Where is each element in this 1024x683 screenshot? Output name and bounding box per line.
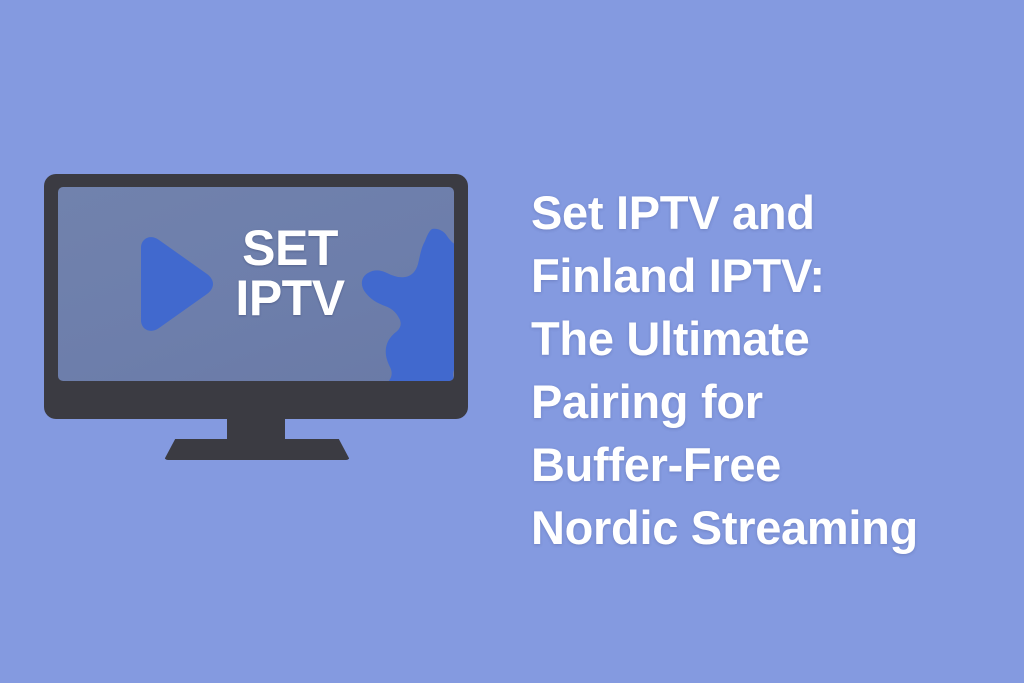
set-iptv-logo-text: SET IPTV xyxy=(208,223,372,323)
play-triangle-icon xyxy=(121,236,215,332)
headline-line-3: The Ultimate xyxy=(531,307,1001,370)
headline-line-5: Buffer-Free xyxy=(531,433,1001,496)
logo-line-2: IPTV xyxy=(208,273,372,323)
television-graphic: SET IPTV FINLAND xyxy=(44,174,468,464)
headline-line-2: Finland IPTV: xyxy=(531,244,1001,307)
tv-bezel: SET IPTV FINLAND xyxy=(44,174,468,419)
headline-line-4: Pairing for xyxy=(531,370,1001,433)
headline-line-6: Nordic Streaming xyxy=(531,496,1001,559)
banner-headline: Set IPTV and Finland IPTV: The Ultimate … xyxy=(531,181,1001,559)
tv-stand-base xyxy=(164,439,350,460)
promo-banner: SET IPTV FINLAND xyxy=(0,0,1024,683)
tv-stand-neck xyxy=(227,417,285,441)
headline-line-1: Set IPTV and xyxy=(531,181,1001,244)
tv-screen: SET IPTV FINLAND xyxy=(58,187,454,381)
logo-line-1: SET xyxy=(208,223,372,273)
finland-map-shape xyxy=(360,228,454,381)
